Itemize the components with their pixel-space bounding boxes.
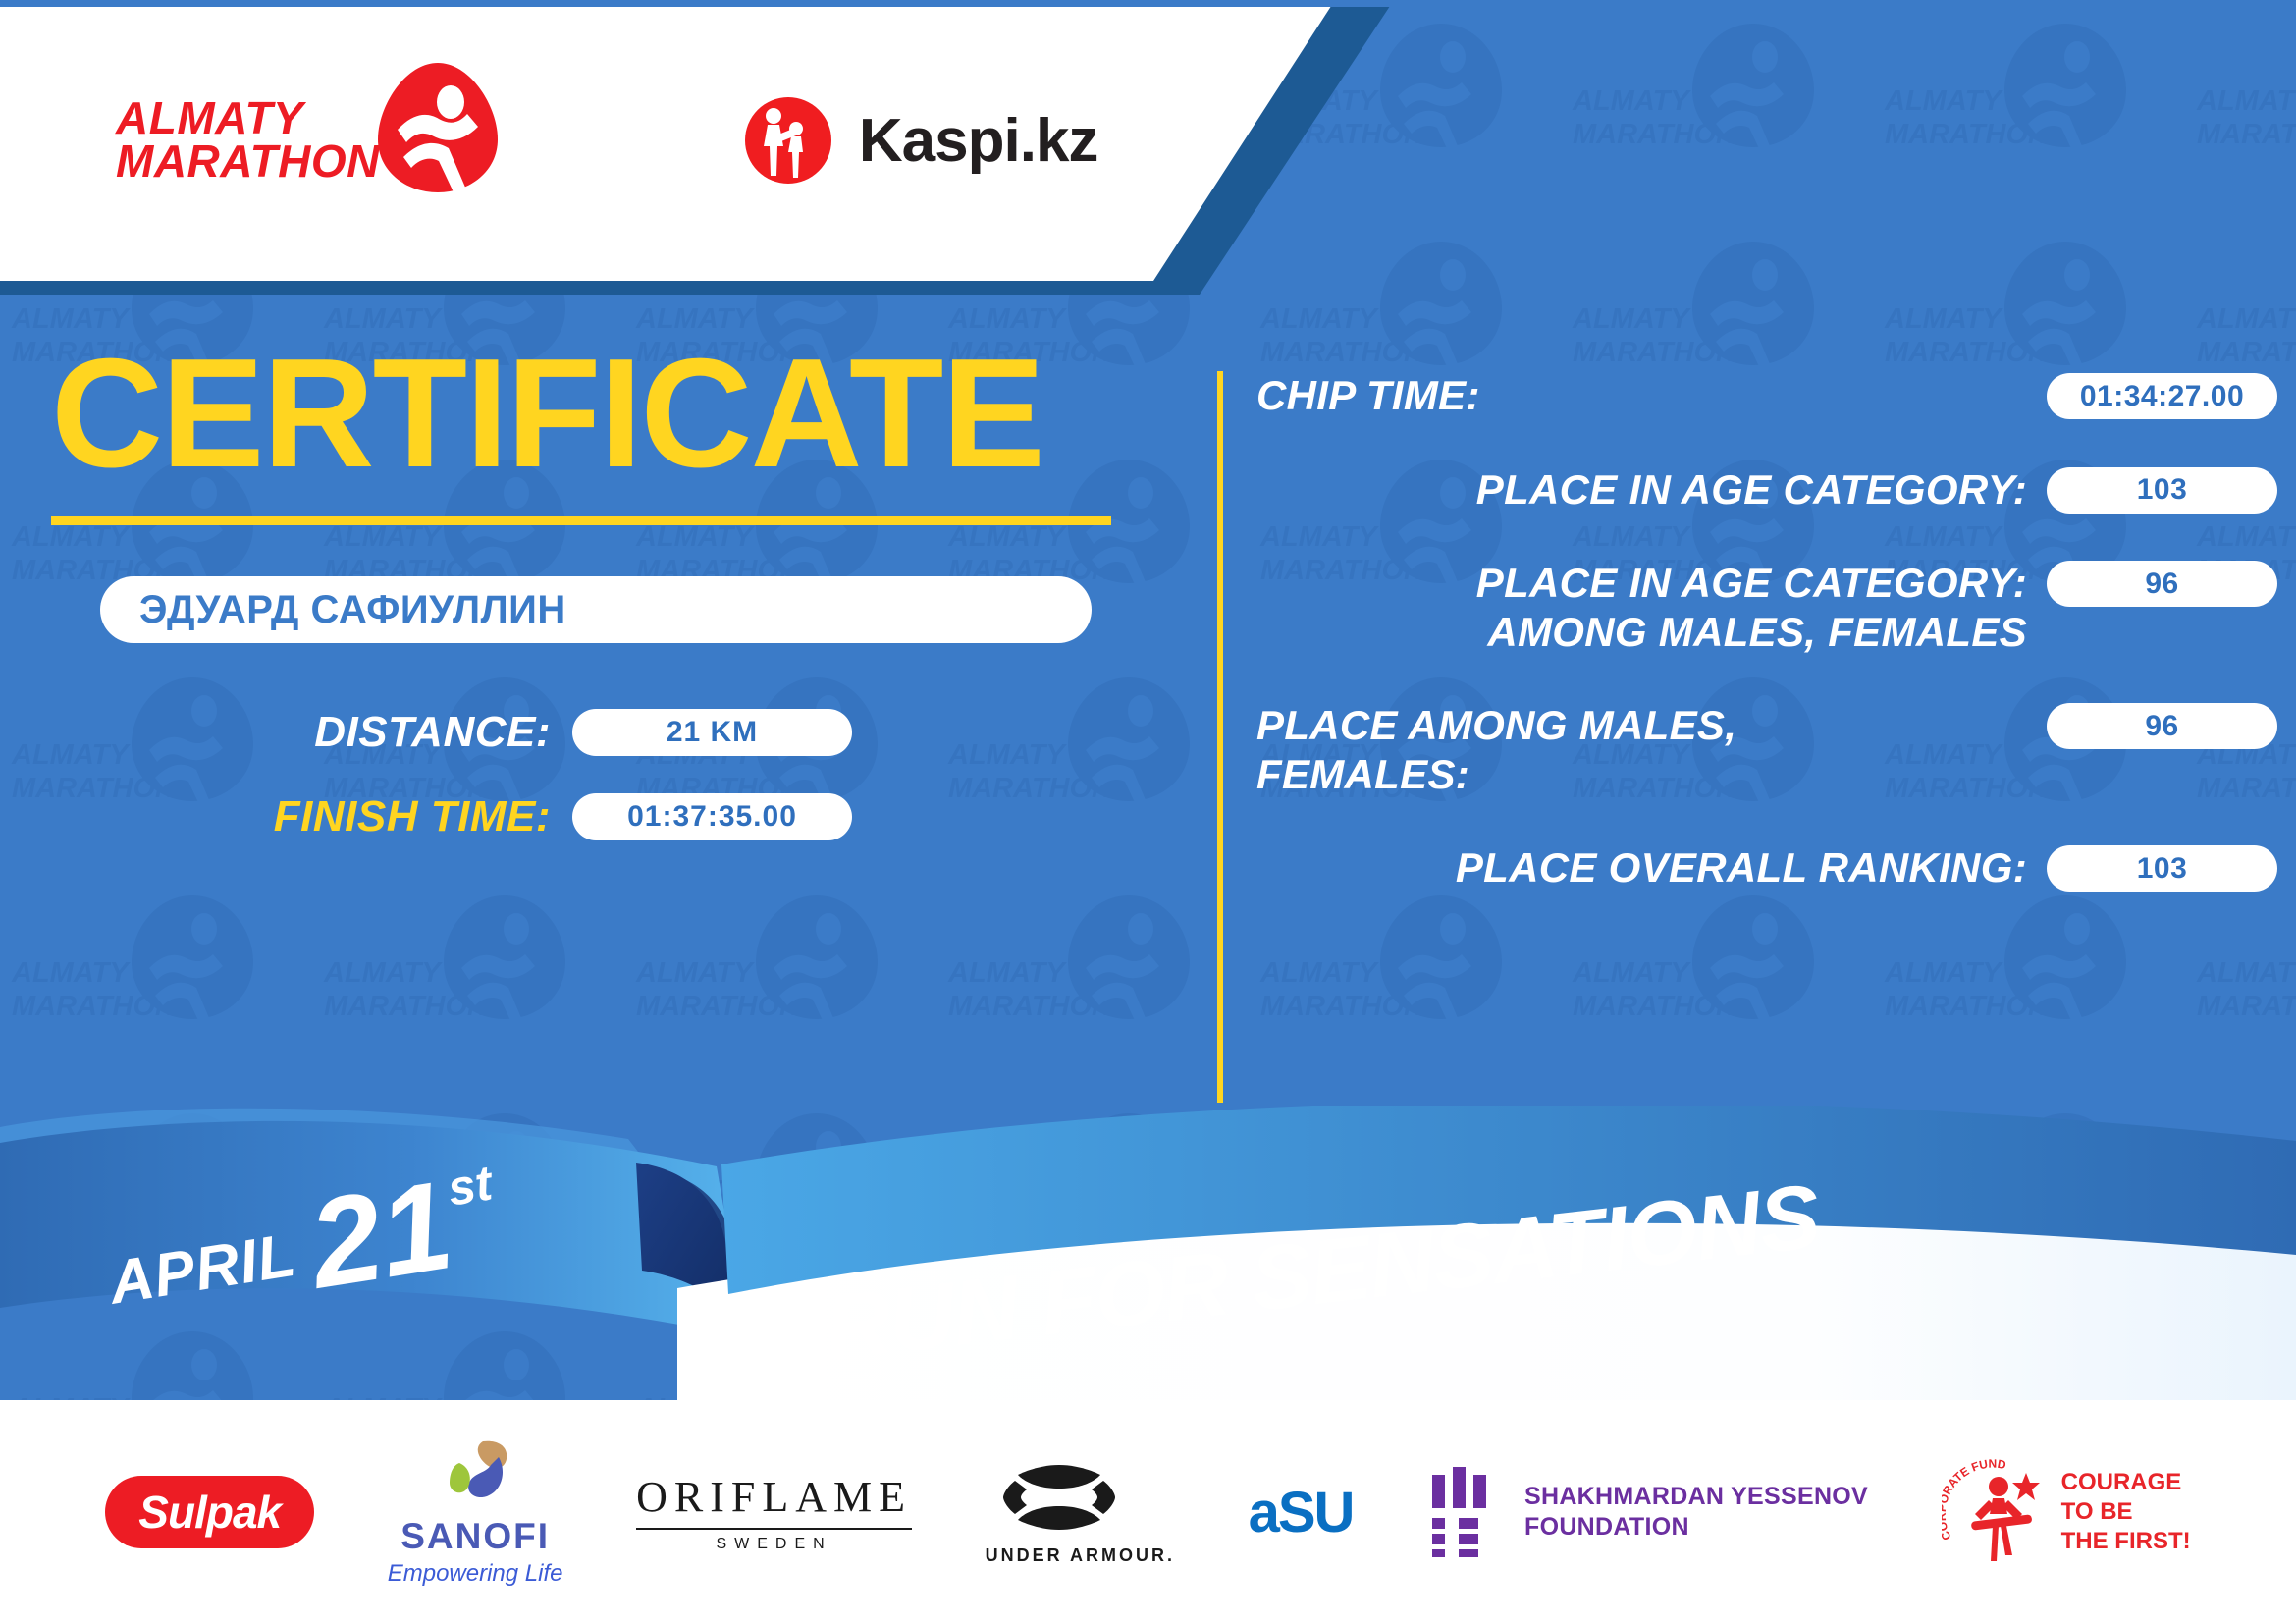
almaty-marathon-logo: ALMATY MARATHON [116,59,502,222]
courage-line3: THE FIRST! [2061,1527,2191,1556]
sponsor-sulpak: Sulpak [105,1476,314,1548]
kaspi-logo: Kaspi.kz [739,91,1098,189]
sanofi-name: SANOFI [388,1516,563,1557]
left-column: CERTIFICATE ЭДУАРД САФИУЛЛИН DISTANCE: 2… [0,281,1193,841]
chip-time-row: CHIP TIME: 01:34:27.00 [1256,371,2277,420]
sponsor-sanofi: SANOFI Empowering Life [388,1437,563,1588]
place-among-gender-row: PLACE AMONG MALES, FEMALES: 96 [1256,701,2277,798]
oriflame-name: ORIFLAME [636,1472,912,1522]
sponsor-oriflame: ORIFLAME SWEDEN [636,1472,912,1553]
finish-time-value: 01:37:35.00 [627,800,797,834]
distance-row: DISTANCE: 21 KM [271,708,1193,757]
oriflame-tagline: SWEDEN [636,1528,912,1553]
kaspi-people-circle-icon [739,91,837,189]
under-armour-icon [986,1459,1133,1542]
almaty-marathon-line2: MARATHON [116,140,380,184]
sanofi-mark-icon [430,1437,520,1510]
header-logos: ALMATY MARATHON Kaspi. [0,0,1335,281]
yessenov-bars-icon [1426,1467,1503,1557]
finish-time-row: FINISH TIME: 01:37:35.00 [271,792,1193,841]
sponsor-strip: Sulpak SANOFI Empowering Life ORIFLAME S… [0,1400,2296,1624]
event-day: 21 [303,1172,458,1300]
place-age-category-gender-row: PLACE IN AGE CATEGORY: AMONG MALES, FEMA… [1256,559,2277,656]
finish-time-label: FINISH TIME: [271,792,551,841]
chip-time-label: CHIP TIME: [1256,371,2047,420]
event-day-suffix: st [444,1154,496,1217]
runner-drop-icon [374,59,502,196]
results-column: CHIP TIME: 01:34:27.00 PLACE IN AGE CATE… [1256,371,2277,938]
sanofi-tagline: Empowering Life [388,1560,563,1588]
sponsor-courage-fund: CORPORATE FUND COURAGE TO BE THE FIRST! [1942,1457,2191,1567]
chip-time-value-pill: 01:34:27.00 [2047,373,2277,419]
athlete-name-field: ЭДУАРД САФИУЛЛИН [100,576,1092,643]
place-age-category-gender-value: 96 [2145,568,2178,601]
yessenov-line2: FOUNDATION [1524,1512,1868,1543]
courage-fund-icon: CORPORATE FUND [1942,1457,2050,1567]
asu-wordmark: aSU [1249,1480,1354,1545]
sponsor-asu: aSU [1249,1480,1354,1545]
place-among-gender-label: PLACE AMONG MALES, FEMALES: [1256,701,2047,798]
place-overall-value-pill: 103 [2047,845,2277,892]
yessenov-name: SHAKHMARDAN YESSENOV FOUNDATION [1524,1482,1868,1543]
place-age-category-label: PLACE IN AGE CATEGORY: [1256,465,2047,514]
courage-text: COURAGE TO BE THE FIRST! [2061,1468,2191,1556]
distance-label: DISTANCE: [271,708,551,757]
place-among-gender-value-pill: 96 [2047,703,2277,749]
yessenov-line1: SHAKHMARDAN YESSENOV [1524,1482,1868,1512]
place-overall-value: 103 [2137,852,2188,886]
place-age-category-value: 103 [2137,473,2188,507]
page-title: CERTIFICATE [51,336,1193,491]
certificate-canvas: ALMATY MARATHON ALMATY MARATHON [0,0,2296,1624]
place-age-category-gender-label: PLACE IN AGE CATEGORY: AMONG MALES, FEMA… [1256,559,2047,656]
sponsor-under-armour: UNDER ARMOUR. [986,1459,1175,1566]
title-underline [51,516,1111,525]
event-month: APRIL [105,1220,301,1319]
chip-time-value: 01:34:27.00 [2080,380,2244,413]
ribbon-banner: APRIL 21 st RUN FOR SENSATIONS [0,1106,2296,1400]
place-overall-label: PLACE OVERALL RANKING: [1256,843,2047,893]
distance-value: 21 KM [667,716,758,749]
under-armour-name: UNDER ARMOUR. [986,1545,1175,1566]
place-age-category-gender-value-pill: 96 [2047,561,2277,607]
place-age-category-row: PLACE IN AGE CATEGORY: 103 [1256,465,2277,514]
place-among-gender-value: 96 [2145,710,2178,743]
athlete-name-value: ЭДУАРД САФИУЛЛИН [100,588,566,632]
sulpak-wordmark: Sulpak [105,1476,314,1548]
place-overall-row: PLACE OVERALL RANKING: 103 [1256,843,2277,893]
courage-line1: COURAGE [2061,1468,2191,1497]
almaty-marathon-line1: ALMATY [116,97,380,140]
courage-line2: TO BE [2061,1497,2191,1527]
place-age-category-value-pill: 103 [2047,467,2277,514]
distance-value-pill: 21 KM [572,709,852,756]
sponsor-yessenov-foundation: SHAKHMARDAN YESSENOV FOUNDATION [1426,1467,1868,1557]
column-divider [1217,371,1223,1103]
kaspi-wordmark: Kaspi.kz [859,106,1098,176]
finish-time-value-pill: 01:37:35.00 [572,793,852,840]
